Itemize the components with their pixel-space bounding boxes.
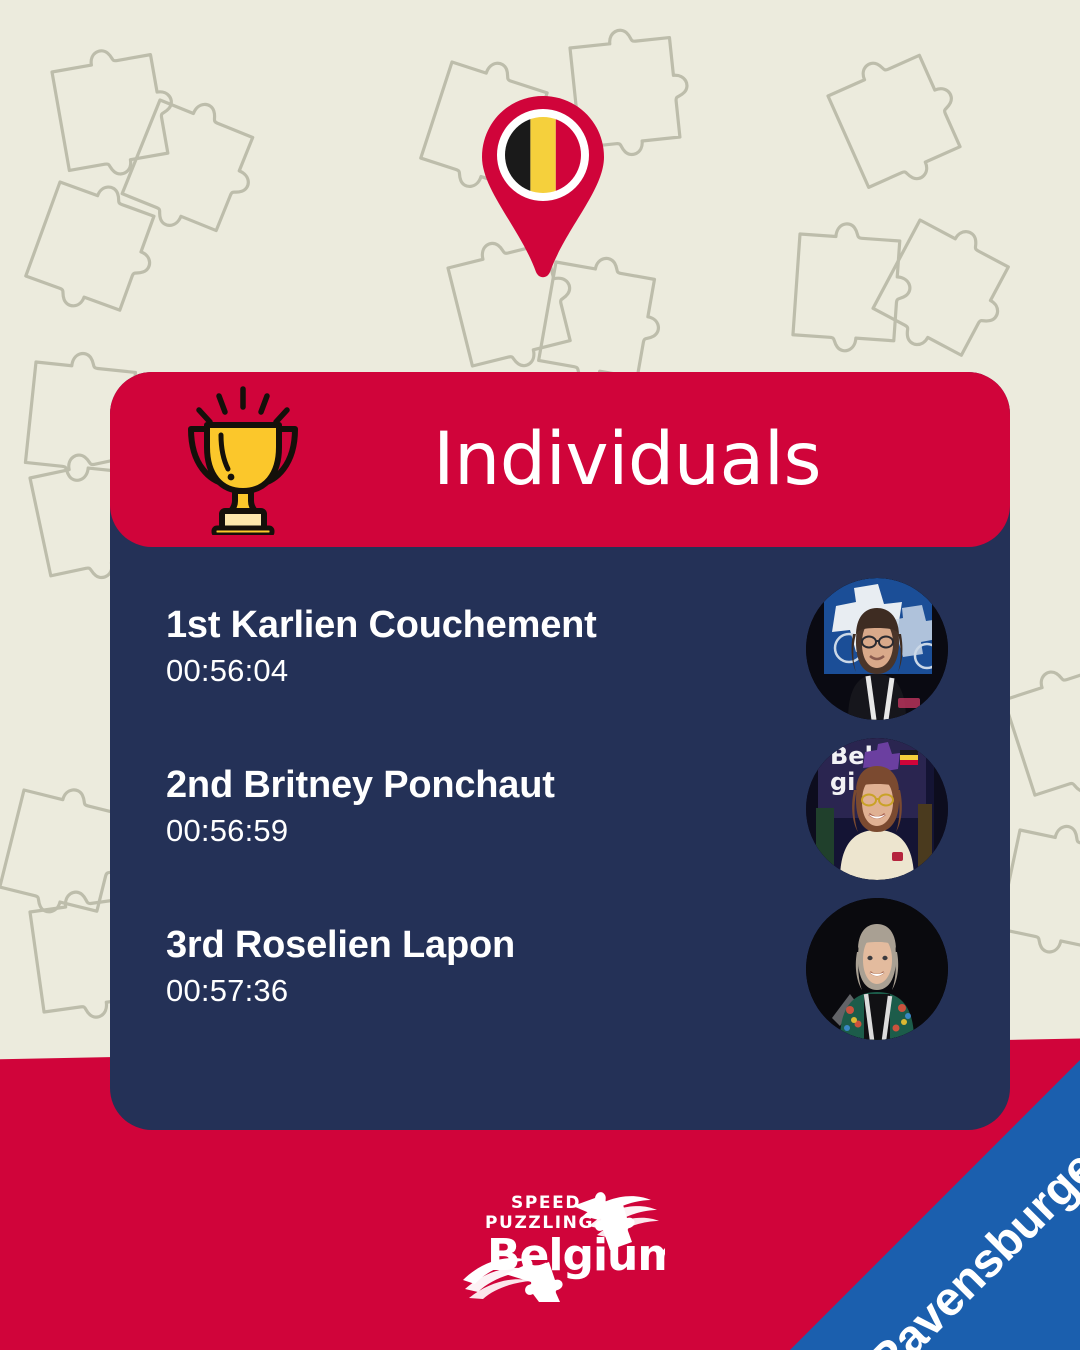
- leaderboard-row-text: 3rd Roselien Lapon 00:57:36: [110, 924, 806, 1014]
- trophy-icon: [168, 372, 318, 547]
- card-header: Individuals: [110, 372, 1010, 547]
- logo-line-1: SPEED: [511, 1193, 581, 1213]
- belgium-flag-icon: [505, 117, 581, 193]
- map-pin-icon: [478, 92, 608, 282]
- svg-text:gi: gi: [830, 768, 855, 796]
- leaderboard-row: 3rd Roselien Lapon 00:57:36: [110, 889, 1010, 1049]
- avatar: [806, 578, 948, 720]
- leaderboard-row-text: 1st Karlien Couchement 00:56:04: [110, 604, 806, 694]
- leaderboard-row: 1st Karlien Couchement 00:56:04: [110, 569, 1010, 729]
- rank-time: 00:57:36: [166, 968, 806, 1015]
- leaderboard-list: 1st Karlien Couchement 00:56:04: [110, 547, 1010, 1130]
- leaderboard-card: Individuals 1st Karlien Couchement 00:56…: [110, 372, 1010, 1130]
- speed-puzzling-belgium-logo: SPEED PUZZLING Belgium: [455, 1188, 665, 1303]
- logo-wordmark: Belgium: [487, 1230, 665, 1281]
- avatar: Bel gi: [806, 738, 948, 880]
- leaderboard-row: 2nd Britney Ponchaut 00:56:59 Bel gi: [110, 729, 1010, 889]
- rank-name: 3rd Roselien Lapon: [166, 924, 806, 968]
- rank-time: 00:56:04: [166, 648, 806, 695]
- rank-name: 1st Karlien Couchement: [166, 604, 806, 648]
- avatar: [806, 898, 948, 1040]
- leaderboard-row-text: 2nd Britney Ponchaut 00:56:59: [110, 764, 806, 854]
- poster-stage: Individuals 1st Karlien Couchement 00:56…: [0, 0, 1080, 1350]
- rank-time: 00:56:59: [166, 808, 806, 855]
- ravensburger-corner-badge: Ravensburger: [790, 1060, 1080, 1350]
- rank-name: 2nd Britney Ponchaut: [166, 764, 806, 808]
- page-title: Individuals: [318, 423, 1010, 496]
